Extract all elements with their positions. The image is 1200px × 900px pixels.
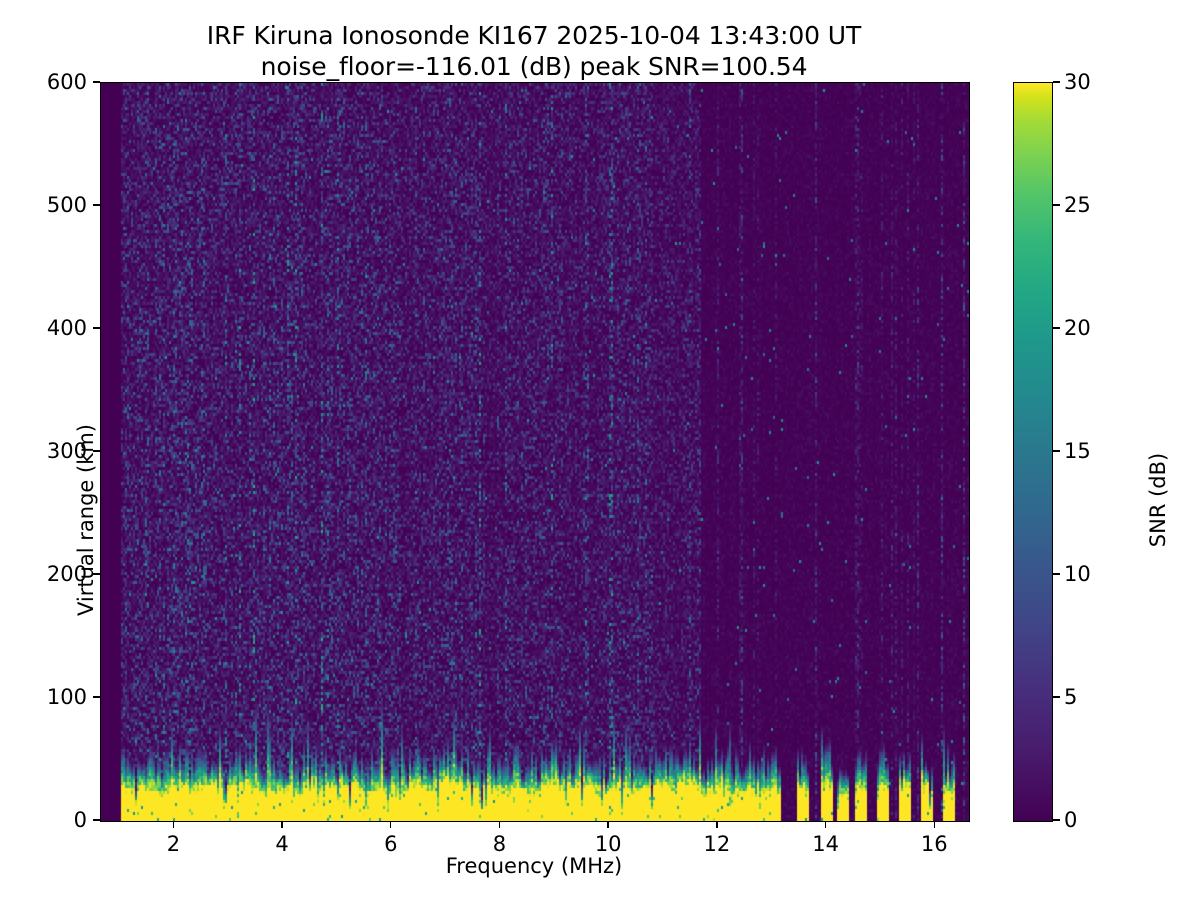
tick-label: 10 — [1064, 562, 1091, 586]
tick-label: 4 — [275, 832, 288, 856]
tick-mark — [93, 819, 100, 820]
tick-mark — [93, 696, 100, 697]
tick-label: 20 — [1064, 316, 1091, 340]
tick-label: 16 — [921, 832, 948, 856]
tick-mark — [716, 821, 717, 828]
tick-label: 0 — [74, 808, 87, 832]
tick-mark — [93, 204, 100, 205]
tick-mark — [1053, 819, 1060, 820]
colorbar-label-text: SNR (dB) — [1146, 390, 1170, 610]
tick-mark — [390, 821, 391, 828]
tick-label: 100 — [47, 685, 87, 709]
tick-label: 2 — [167, 832, 180, 856]
tick-mark — [173, 821, 174, 828]
snr-colorbar — [1013, 82, 1053, 822]
tick-label: 6 — [384, 832, 397, 856]
tick-mark — [1053, 81, 1060, 82]
tick-label: 12 — [704, 832, 731, 856]
x-axis-label: Frequency (MHz) — [100, 854, 968, 878]
tick-mark — [1053, 573, 1060, 574]
y-axis-label: Virtual range (km) — [74, 370, 98, 530]
tick-mark — [281, 821, 282, 828]
tick-mark — [499, 821, 500, 828]
colorbar-label: SNR (dB) — [1146, 390, 1170, 510]
title-line-2: noise_floor=-116.01 (dB) peak SNR=100.54 — [100, 51, 968, 82]
ionogram-heatmap — [101, 83, 969, 821]
tick-mark — [1053, 450, 1060, 451]
tick-mark — [607, 821, 608, 828]
tick-label: 15 — [1064, 439, 1091, 463]
heatmap-axes — [100, 82, 970, 822]
tick-mark — [1053, 327, 1060, 328]
tick-label: 0 — [1064, 808, 1077, 832]
title-line-1: IRF Kiruna Ionosonde KI167 2025-10-04 13… — [100, 20, 968, 51]
tick-label: 10 — [595, 832, 622, 856]
tick-mark — [1053, 204, 1060, 205]
tick-label: 8 — [493, 832, 506, 856]
ionogram-figure: IRF Kiruna Ionosonde KI167 2025-10-04 13… — [0, 0, 1200, 900]
tick-label: 500 — [47, 193, 87, 217]
tick-mark — [1053, 696, 1060, 697]
tick-mark — [934, 821, 935, 828]
tick-mark — [93, 327, 100, 328]
y-axis-label-text: Virtual range (km) — [74, 370, 98, 670]
tick-label: 14 — [812, 832, 839, 856]
tick-label: 30 — [1064, 70, 1091, 94]
plot-title: IRF Kiruna Ionosonde KI167 2025-10-04 13… — [100, 20, 968, 82]
tick-label: 600 — [47, 70, 87, 94]
tick-mark — [93, 81, 100, 82]
tick-label: 400 — [47, 316, 87, 340]
tick-mark — [825, 821, 826, 828]
tick-label: 25 — [1064, 193, 1091, 217]
tick-label: 5 — [1064, 685, 1077, 709]
